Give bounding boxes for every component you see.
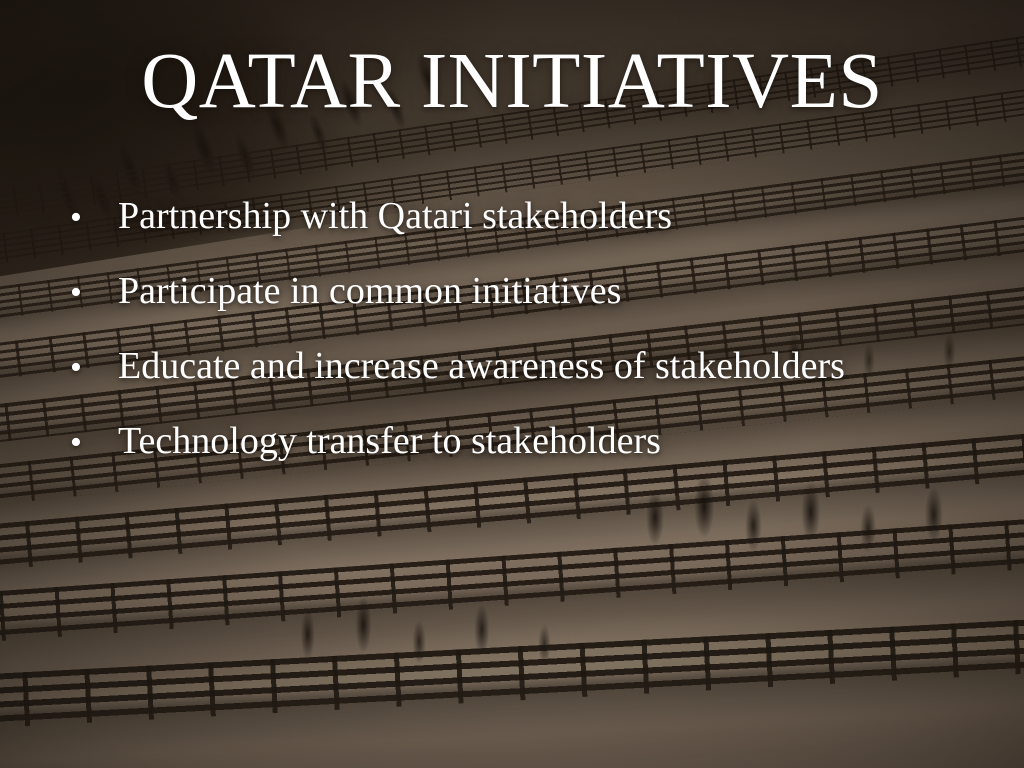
bullet-marker-icon: • bbox=[62, 426, 118, 460]
slide-content: Qatar Initiatives • Partnership with Qat… bbox=[0, 0, 1024, 768]
bullet-text: Educate and increase awareness of stakeh… bbox=[118, 346, 1004, 388]
bullet-marker-icon: • bbox=[62, 276, 118, 310]
presentation-slide: Qatar Initiatives • Partnership with Qat… bbox=[0, 0, 1024, 768]
bullet-text: Partnership with Qatari stakeholders bbox=[118, 196, 1004, 238]
list-item: • Technology transfer to stakeholders bbox=[62, 421, 1004, 496]
bullet-text: Participate in common initiatives bbox=[118, 271, 1004, 313]
list-item: • Participate in common initiatives bbox=[62, 271, 1004, 346]
bullet-marker-icon: • bbox=[62, 351, 118, 385]
slide-title: Qatar Initiatives bbox=[0, 42, 1024, 121]
list-item: • Partnership with Qatari stakeholders bbox=[62, 196, 1004, 271]
list-item: • Educate and increase awareness of stak… bbox=[62, 346, 1004, 421]
bullet-text: Technology transfer to stakeholders bbox=[118, 421, 1004, 463]
bullet-list: • Partnership with Qatari stakeholders •… bbox=[62, 196, 1004, 496]
bullet-marker-icon: • bbox=[62, 201, 118, 235]
